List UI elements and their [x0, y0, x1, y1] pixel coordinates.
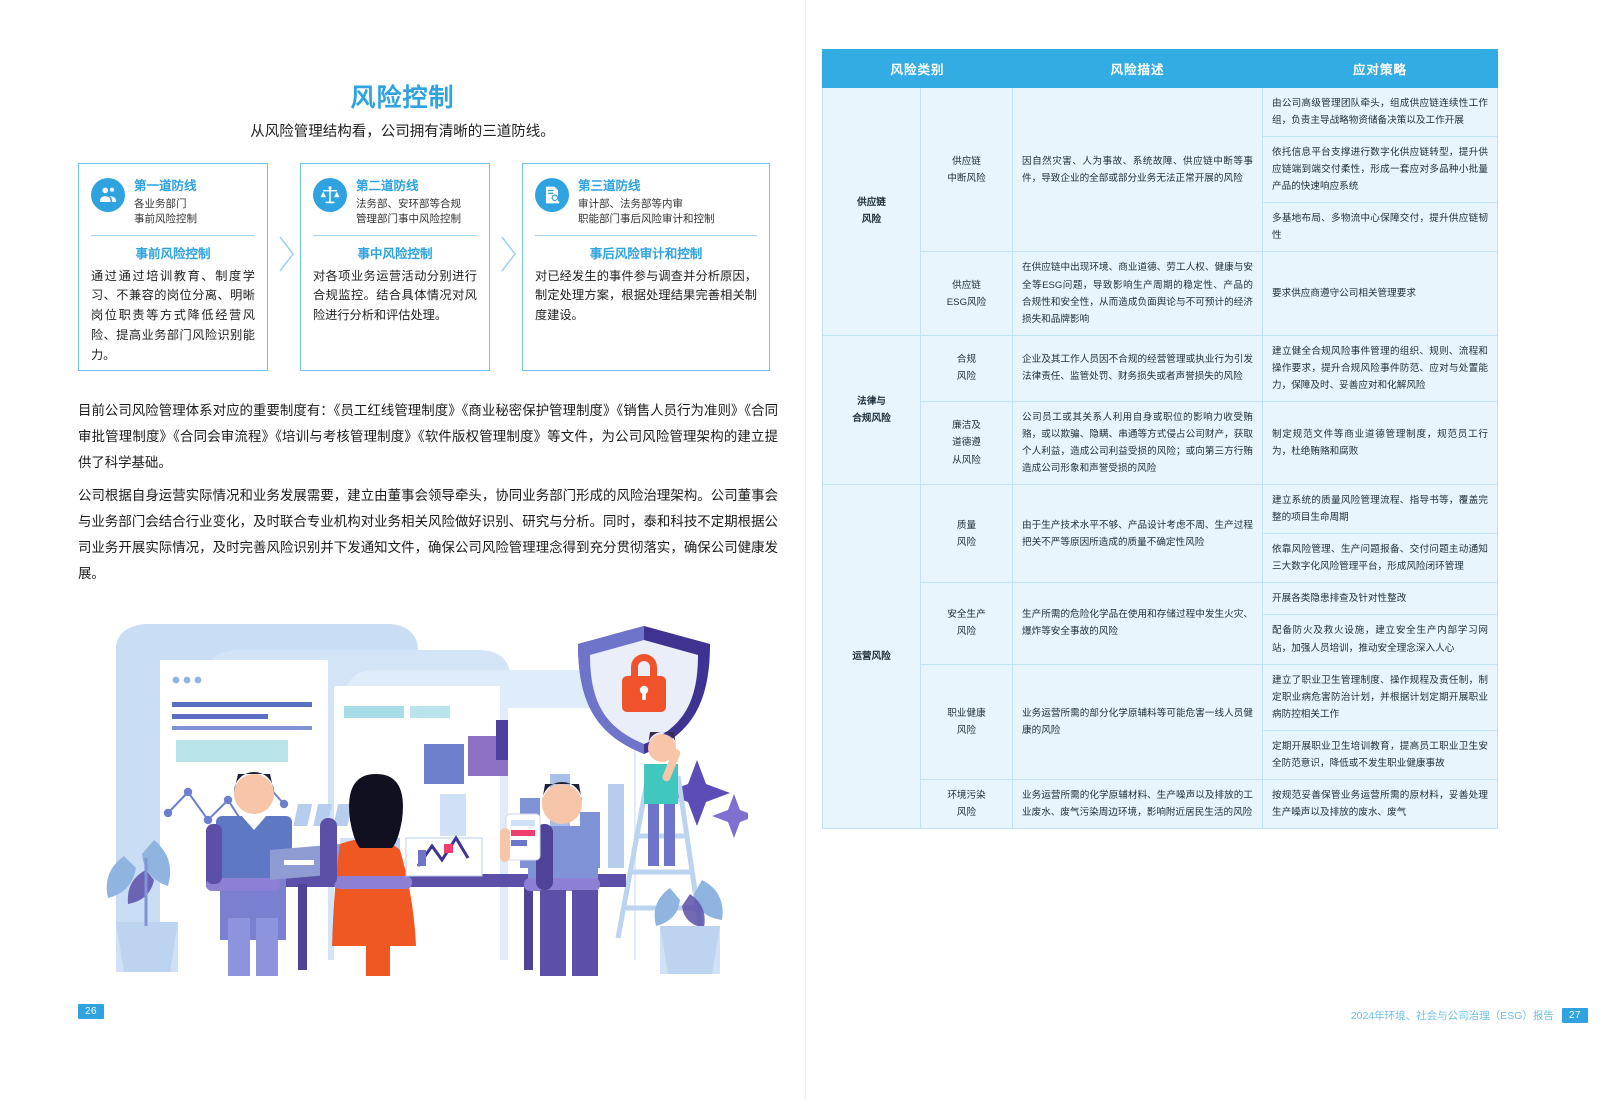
table-row: 供应链 风险 供应链 中断风险 因自然灾害、人为事故、系统故障、供应链中断等事件… — [823, 88, 1498, 137]
page-subtitle: 从风险管理结构看，公司拥有清晰的三道防线。 — [0, 120, 805, 141]
risk-subcategory: 供应链 ESG风险 — [921, 252, 1013, 335]
risk-description: 因自然灾害、人为事故、系统故障、供应链中断等事件，导致企业的全部或部分业务无法正… — [1013, 88, 1263, 252]
right-page: 风险类别 风险描述 应对策略 供应链 风险 供应链 中断风险 因自然灾害、人为事… — [805, 0, 1610, 1100]
column-header-category: 风险类别 — [823, 50, 1013, 88]
risk-table: 风险类别 风险描述 应对策略 供应链 风险 供应链 中断风险 因自然灾害、人为事… — [822, 49, 1498, 829]
table-row: 廉洁及 道德遵 从风险 公司员工或其关系人利用自身或职位的影响力收受贿赂，或以欺… — [823, 401, 1498, 484]
card-keyline: 事后风险审计和控制 — [535, 243, 757, 262]
risk-strategy: 开展各类隐患排查及针对性整改 — [1263, 583, 1498, 615]
risk-description: 企业及其工作人员因不合规的经营管理或执业行为引发法律责任、监管处罚、财务损失或者… — [1013, 335, 1263, 401]
risk-strategy: 多基地布局、多物流中心保障交付，提升供应链韧性 — [1263, 203, 1498, 252]
left-page: 风险控制 从风险管理结构看，公司拥有清晰的三道防线。 第一道防线 — [0, 0, 805, 1100]
footer-right: 2024年环境、社会与公司治理（ESG）报告 27 — [1351, 1008, 1588, 1023]
risk-subcategory: 廉洁及 道德遵 从风险 — [921, 401, 1013, 484]
table-row: 法律与 合规风险 合规 风险 企业及其工作人员因不合规的经营管理或执业行为引发法… — [823, 335, 1498, 401]
card-subtitle: 各业务部门 事前风险控制 — [134, 197, 255, 227]
risk-category: 运营风险 — [823, 485, 921, 829]
risk-strategy: 配备防火及救火设施，建立安全生产内部学习网站，加强人员培训，推动安全理念深入人心 — [1263, 615, 1498, 664]
card-subtitle: 审计部、法务部等内审 职能部门事后风险审计和控制 — [578, 197, 757, 227]
risk-strategy: 按规范妥善保管业务运营所需的原材料，妥善处理生产噪声以及排放的废水、废气 — [1263, 779, 1498, 828]
people-icon — [91, 178, 125, 212]
card-title: 第一道防线 — [134, 178, 255, 195]
risk-description: 业务运营所需的部分化学原辅料等可能危害一线人员健康的风险 — [1013, 664, 1263, 779]
chevron-right-icon — [498, 231, 520, 277]
chevron-right-icon — [276, 231, 298, 277]
defense-line-card-1: 第一道防线 各业务部门 事前风险控制 事前风险控制 通过通过培训教育、制度学习、… — [78, 163, 268, 371]
card-header: 第一道防线 各业务部门 事前风险控制 — [91, 178, 255, 227]
report-spread: 风险控制 从风险管理结构看，公司拥有清晰的三道防线。 第一道防线 — [0, 0, 1610, 1100]
risk-table-body: 供应链 风险 供应链 中断风险 因自然灾害、人为事故、系统故障、供应链中断等事件… — [823, 88, 1498, 829]
risk-subcategory: 供应链 中断风险 — [921, 88, 1013, 252]
page-number-right: 27 — [1562, 1008, 1588, 1023]
risk-category: 供应链 风险 — [823, 88, 921, 336]
table-row: 运营风险 质量 风险 由于生产技术水平不够、产品设计考虑不周、生产过程把关不严等… — [823, 485, 1498, 534]
column-header-description: 风险描述 — [1013, 50, 1263, 88]
table-row: 职业健康 风险 业务运营所需的部分化学原辅料等可能危害一线人员健康的风险 建立了… — [823, 664, 1498, 730]
card-keyline: 事中风险控制 — [313, 243, 477, 262]
page-number-left: 26 — [78, 1004, 104, 1019]
document-search-icon — [535, 178, 569, 212]
risk-subcategory: 合规 风险 — [921, 335, 1013, 401]
risk-strategy: 建立系统的质量风险管理流程、指导书等，覆盖完整的项目生命周期 — [1263, 485, 1498, 534]
card-header: 第二道防线 法务部、安环部等合规 管理部门事中风险控制 — [313, 178, 477, 227]
risk-strategy: 要求供应商遵守公司相关管理要求 — [1263, 252, 1498, 335]
risk-strategy: 依靠风险管理、生产问题报备、交付问题主动通知三大数字化风险管理平台，形成风险闭环… — [1263, 534, 1498, 583]
risk-strategy: 建立了职业卫生管理制度、操作规程及责任制，制定职业病危害防治计划，并根据计划定期… — [1263, 664, 1498, 730]
card-title: 第二道防线 — [356, 178, 477, 195]
defense-line-card-3: 第三道防线 审计部、法务部等内审 职能部门事后风险审计和控制 事后风险审计和控制… — [522, 163, 770, 371]
divider — [535, 235, 757, 236]
risk-category: 法律与 合规风险 — [823, 335, 921, 484]
card-keyline: 事前风险控制 — [91, 243, 255, 262]
card-body: 通过通过培训教育、制度学习、不兼容的岗位分离、明晰岗位职责等方式降低经营风险、提… — [91, 267, 255, 366]
paragraph-1: 目前公司风险管理体系对应的重要制度有：《员工红线管理制度》《商业秘密保护管理制度… — [78, 398, 778, 476]
risk-description: 公司员工或其关系人利用自身或职位的影响力收受贿赂，或以欺骗、隐瞒、串通等方式侵占… — [1013, 401, 1263, 484]
risk-description: 业务运营所需的化学原辅材料、生产噪声以及排放的工业废水、废气污染周边环境，影响附… — [1013, 779, 1263, 828]
risk-strategy: 依托信息平台支撑进行数字化供应链转型，提升供应链端到端交付柔性，形成一套应对多品… — [1263, 137, 1498, 203]
table-row: 供应链 ESG风险 在供应链中出现环境、商业道德、劳工人权、健康与安全等ESG问… — [823, 252, 1498, 335]
table-row: 安全生产 风险 生产所需的危险化学品在使用和存储过程中发生火灾、爆炸等安全事故的… — [823, 583, 1498, 615]
risk-subcategory: 安全生产 风险 — [921, 583, 1013, 664]
defense-lines-group: 第一道防线 各业务部门 事前风险控制 事前风险控制 通过通过培训教育、制度学习、… — [78, 163, 778, 373]
card-body: 对已经发生的事件参与调查并分析原因，制定处理方案，根据处理结果完善相关制度建设。 — [535, 267, 757, 326]
card-title: 第三道防线 — [578, 178, 757, 195]
balance-scale-icon — [313, 178, 347, 212]
risk-strategy: 定期开展职业卫生培训教育，提高员工职业卫生安全防范意识，降低或不发生职业健康事故 — [1263, 730, 1498, 779]
divider — [313, 235, 477, 236]
risk-description: 在供应链中出现环境、商业道德、劳工人权、健康与安全等ESG问题，导致影响生产周期… — [1013, 252, 1263, 335]
risk-strategy: 建立健全合规风险事件管理的组织、规则、流程和操作要求，提升合规风险事件防范、应对… — [1263, 335, 1498, 401]
card-body: 对各项业务运营活动分别进行合规监控。结合具体情况对风险进行分析和评估处理。 — [313, 267, 477, 326]
risk-description: 由于生产技术水平不够、产品设计考虑不周、生产过程把关不严等原因所造成的质量不确定… — [1013, 485, 1263, 583]
footer-text: 2024年环境、社会与公司治理（ESG）报告 — [1351, 1008, 1554, 1023]
card-header: 第三道防线 审计部、法务部等内审 职能部门事后风险审计和控制 — [535, 178, 757, 227]
table-row: 环境污染 风险 业务运营所需的化学原辅材料、生产噪声以及排放的工业废水、废气污染… — [823, 779, 1498, 828]
risk-subcategory: 环境污染 风险 — [921, 779, 1013, 828]
page-title: 风险控制 — [0, 78, 805, 114]
card-subtitle: 法务部、安环部等合规 管理部门事中风险控制 — [356, 197, 477, 227]
defense-line-card-2: 第二道防线 法务部、安环部等合规 管理部门事中风险控制 事中风险控制 对各项业务… — [300, 163, 490, 371]
teamwork-data-security-illustration — [88, 588, 748, 980]
risk-strategy: 制定规范文件等商业道德管理制度，规范员工行为，杜绝贿赂和腐败 — [1263, 401, 1498, 484]
column-header-strategy: 应对策略 — [1263, 50, 1498, 88]
paragraph-2: 公司根据自身运营实际情况和业务发展需要，建立由董事会领导牵头，协同业务部门形成的… — [78, 483, 778, 588]
risk-subcategory: 职业健康 风险 — [921, 664, 1013, 779]
risk-strategy: 由公司高级管理团队牵头，组成供应链连续性工作组，负责主导战略物资储备决策以及工作… — [1263, 88, 1498, 137]
table-header-row: 风险类别 风险描述 应对策略 — [823, 50, 1498, 88]
divider — [91, 235, 255, 236]
risk-description: 生产所需的危险化学品在使用和存储过程中发生火灾、爆炸等安全事故的风险 — [1013, 583, 1263, 664]
risk-subcategory: 质量 风险 — [921, 485, 1013, 583]
